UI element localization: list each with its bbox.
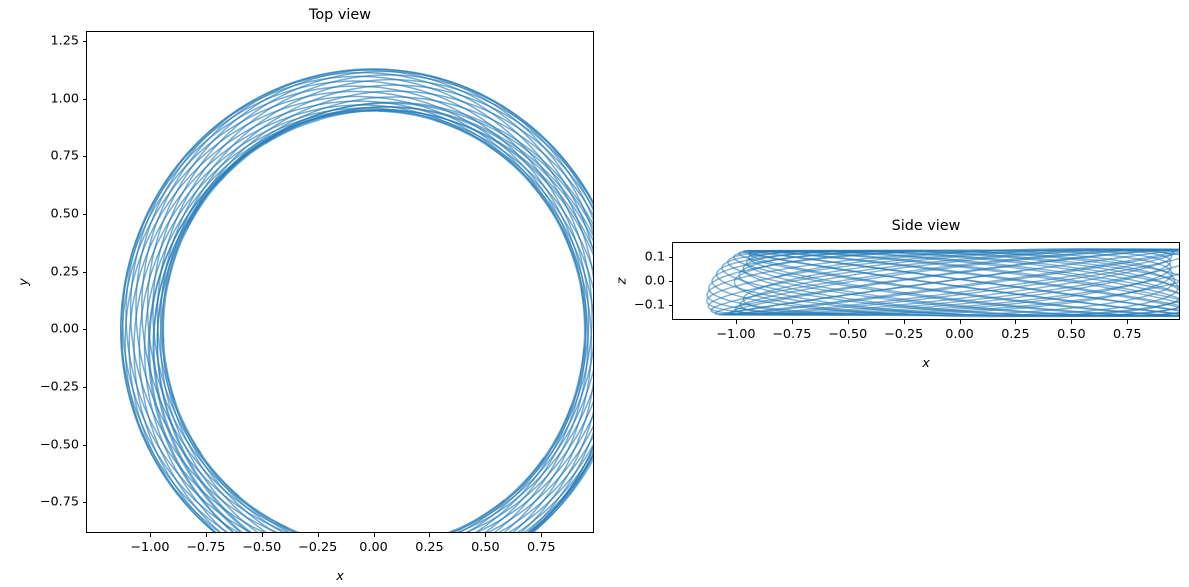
- x-axis-label-side-view: x: [922, 356, 930, 371]
- x-tick-mark: [1071, 320, 1072, 324]
- x-tick-label: 0.00: [945, 327, 974, 342]
- x-tick-mark: [792, 320, 793, 324]
- x-tick-mark: [150, 533, 151, 537]
- y-tick-mark: [83, 387, 87, 388]
- x-tick-mark: [904, 320, 905, 324]
- y-tick-mark: [83, 214, 87, 215]
- y-tick-label: 0.25: [51, 264, 80, 279]
- orbit-revolution-path: [150, 109, 594, 533]
- y-tick-label: 1.25: [51, 33, 80, 48]
- x-tick-label: 0.50: [1057, 327, 1086, 342]
- y-tick-label: 0.0: [645, 274, 665, 289]
- x-tick-label: −1.00: [130, 540, 169, 555]
- orbit-revolution-path: [161, 80, 594, 533]
- y-tick-mark: [83, 41, 87, 42]
- x-tick-label: 0.50: [471, 540, 500, 555]
- x-tick-mark: [485, 533, 486, 537]
- x-tick-label: −0.25: [298, 540, 337, 555]
- x-tick-label: 0.25: [415, 540, 444, 555]
- x-tick-label: 0.75: [527, 540, 556, 555]
- y-tick-label: 0.50: [51, 206, 80, 221]
- y-tick-mark: [669, 281, 673, 282]
- x-tick-label: −1.00: [716, 327, 755, 342]
- x-tick-label: −0.50: [242, 540, 281, 555]
- axes-side-view: [672, 242, 1180, 320]
- x-tick-mark: [318, 533, 319, 537]
- x-tick-mark: [1015, 320, 1016, 324]
- x-tick-label: −0.75: [772, 327, 811, 342]
- x-tick-label: −0.25: [884, 327, 923, 342]
- y-axis-label-top-view: y: [17, 278, 32, 286]
- x-tick-label: −0.75: [186, 540, 225, 555]
- y-tick-mark: [669, 257, 673, 258]
- x-axis-label-top-view: x: [336, 569, 344, 584]
- x-tick-label: 0.00: [359, 540, 388, 555]
- orbit-trace-top-view: [86, 31, 594, 533]
- x-tick-mark: [429, 533, 430, 537]
- x-tick-mark: [960, 320, 961, 324]
- y-tick-mark: [83, 156, 87, 157]
- matplotlib-figure: Top view x y Side view x z −1.00−0.75−0.…: [0, 0, 1189, 587]
- y-tick-label: −0.50: [40, 437, 79, 452]
- x-tick-mark: [374, 533, 375, 537]
- y-tick-label: −0.25: [40, 380, 79, 395]
- y-tick-mark: [83, 272, 87, 273]
- orbit-revolution-path: [157, 103, 594, 533]
- z-axis-label-side-view: z: [615, 278, 630, 285]
- y-tick-mark: [83, 502, 87, 503]
- x-tick-mark: [206, 533, 207, 537]
- y-tick-label: 1.00: [51, 91, 80, 106]
- y-tick-mark: [83, 99, 87, 100]
- x-tick-mark: [541, 533, 542, 537]
- orbit-trace-side-view: [672, 242, 1180, 320]
- y-tick-label: 0.00: [51, 322, 80, 337]
- x-tick-mark: [848, 320, 849, 324]
- y-tick-label: −0.1: [634, 297, 665, 312]
- axes-top-view: [86, 31, 594, 533]
- axes-title-top-view: Top view: [86, 7, 594, 23]
- x-tick-label: 0.25: [1001, 327, 1030, 342]
- x-tick-label: −0.50: [828, 327, 867, 342]
- y-tick-label: −0.75: [40, 495, 79, 510]
- y-tick-label: 0.75: [51, 149, 80, 164]
- y-tick-label: 0.1: [645, 250, 665, 265]
- x-tick-mark: [736, 320, 737, 324]
- y-tick-mark: [669, 305, 673, 306]
- x-tick-mark: [262, 533, 263, 537]
- axes-title-side-view: Side view: [672, 218, 1180, 234]
- x-tick-label: 0.75: [1113, 327, 1142, 342]
- x-tick-mark: [1127, 320, 1128, 324]
- y-tick-mark: [83, 329, 87, 330]
- y-tick-mark: [83, 445, 87, 446]
